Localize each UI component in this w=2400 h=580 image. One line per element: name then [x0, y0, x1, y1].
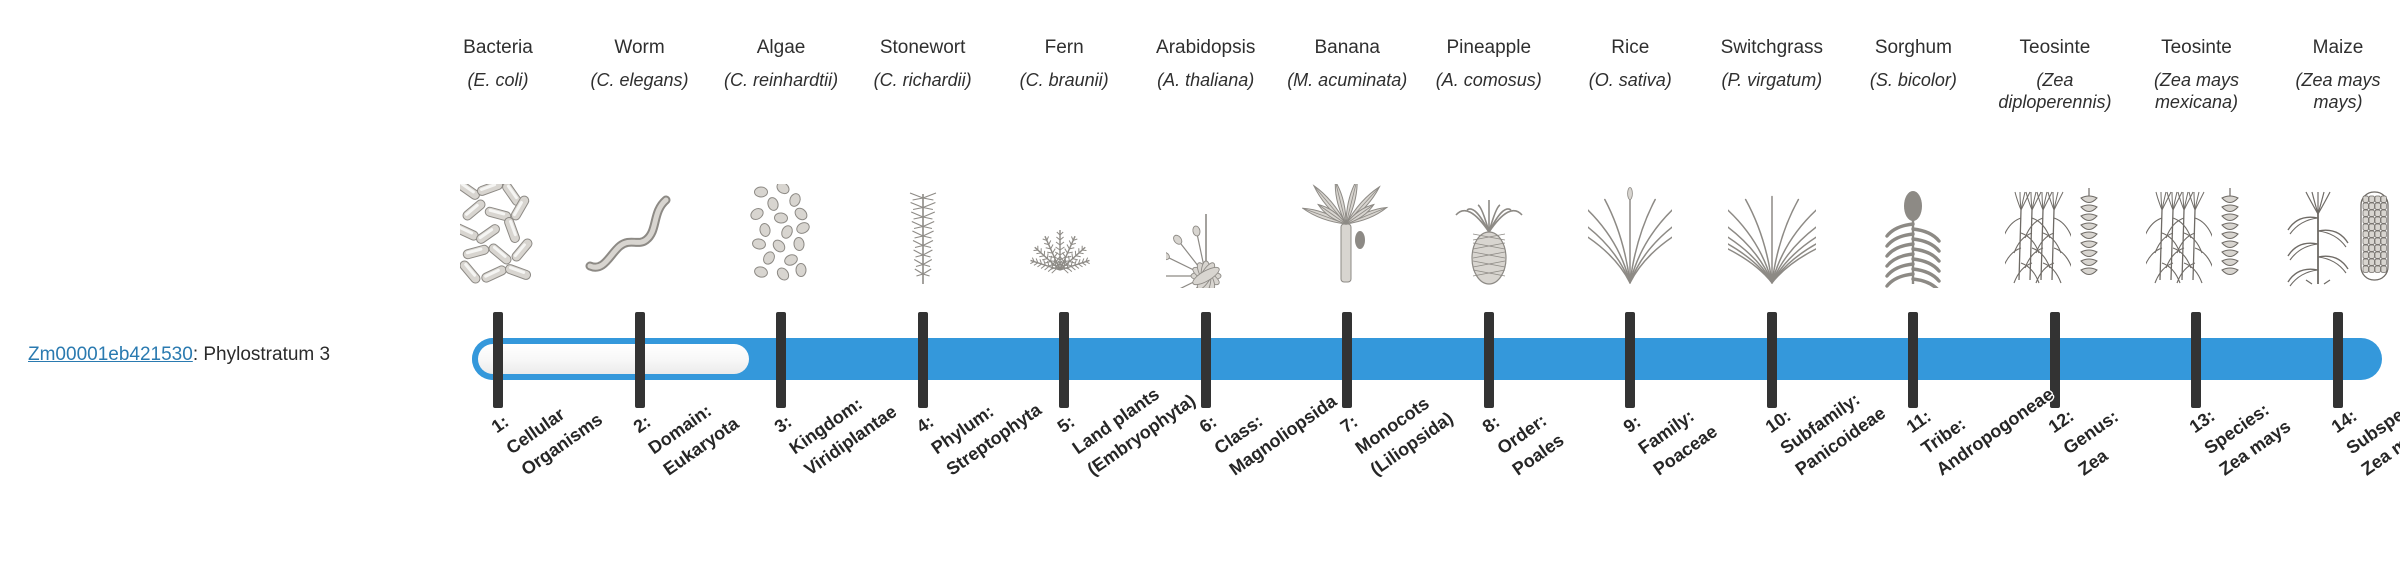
maize-illustration	[2274, 168, 2400, 288]
gene-label-separator: :	[193, 344, 204, 365]
phylostratum-progress-track[interactable]	[472, 338, 2382, 380]
phylostratum-label: 10: Subfamily: Panicoideae	[1760, 298, 1977, 482]
fern-illustration	[1000, 168, 1128, 288]
phylostratum-tick	[1059, 312, 1069, 408]
phylostratum-label: 7: Monocots (Liliopsida)	[1335, 298, 1552, 482]
species-common-name: Teosinte	[2132, 36, 2260, 60]
species-column: Pineapple (A. comosus)	[1425, 36, 1553, 115]
phylostratum-label: 13: Species: Zea mays	[2184, 298, 2400, 482]
species-scientific-name: (Zea mays mays)	[2274, 69, 2400, 115]
species-scientific-name: (Zea diploperennis)	[1991, 69, 2119, 115]
teosinte-diploperennis-illustration	[1991, 168, 2119, 288]
species-column: Bacteria (E. coli)	[434, 36, 562, 115]
arabidopsis-illustration	[1142, 168, 1270, 288]
rice-illustration	[1566, 168, 1694, 288]
phylostratum-unfilled-inner	[478, 344, 749, 374]
phylostratum-tick	[2333, 312, 2343, 408]
phylostratum-tick	[635, 312, 645, 408]
phylostratum-label: 9: Family: Poaceae	[1618, 298, 1835, 482]
species-common-name: Fern	[1000, 36, 1128, 60]
gene-phylostratum-label: Zm00001eb421530: Phylostratum 3	[28, 343, 458, 367]
species-column: Sorghum (S. bicolor)	[1849, 36, 1977, 115]
species-common-name: Banana	[1283, 36, 1411, 60]
species-common-name: Bacteria	[434, 36, 562, 60]
phylostratum-tick	[776, 312, 786, 408]
species-column: Teosinte (Zea mays mexicana)	[2132, 36, 2260, 115]
species-scientific-name: (A. comosus)	[1425, 69, 1553, 115]
phylostratum-figure: Zm00001eb421530: Phylostratum 3 Bacteria…	[0, 0, 2400, 580]
phylostratum-value-text: Phylostratum 3	[203, 344, 330, 365]
bacteria-illustration	[434, 168, 562, 288]
phylostratum-label: 8: Order: Poales	[1477, 298, 1694, 482]
banana-illustration	[1283, 168, 1411, 288]
species-column: Rice (O. sativa)	[1566, 36, 1694, 115]
phylostratum-tick	[1625, 312, 1635, 408]
species-common-name: Algae	[717, 36, 845, 60]
phylostratum-tick	[1342, 312, 1352, 408]
species-scientific-name: (C. richardii)	[859, 69, 987, 115]
phylostratum-label: 3: Kingdom: Viridiplantae	[769, 298, 986, 482]
phylostratum-tick	[1201, 312, 1211, 408]
phylostratum-label: 6: Class: Magnoliopsida	[1194, 298, 1411, 482]
species-scientific-name: (C. elegans)	[576, 69, 704, 115]
phylostratum-label: 12: Genus: Zea	[2043, 298, 2260, 482]
teosinte-mexicana-illustration	[2132, 168, 2260, 288]
stonewort-illustration	[859, 168, 987, 288]
species-column: Stonewort (C. richardii)	[859, 36, 987, 115]
species-column: Switchgrass (P. virgatum)	[1708, 36, 1836, 115]
species-common-name: Teosinte	[1991, 36, 2119, 60]
species-scientific-name: (A. thaliana)	[1142, 69, 1270, 115]
phylostratum-unfilled-region	[472, 338, 755, 380]
phylostratum-label: 5: Land plants (Embryophyta)	[1052, 298, 1269, 482]
species-scientific-name: (P. virgatum)	[1708, 69, 1836, 115]
species-common-name: Sorghum	[1849, 36, 1977, 60]
species-scientific-name: (O. sativa)	[1566, 69, 1694, 115]
species-scientific-name: (Zea mays mexicana)	[2132, 69, 2260, 115]
species-column: Arabidopsis (A. thaliana)	[1142, 36, 1270, 115]
phylostratum-tick	[493, 312, 503, 408]
species-common-name: Arabidopsis	[1142, 36, 1270, 60]
gene-id-link[interactable]: Zm00001eb421530	[28, 344, 193, 365]
species-column: Maize (Zea mays mays)	[2274, 36, 2400, 115]
phylostratum-tick	[1908, 312, 1918, 408]
phylostratum-tick	[918, 312, 928, 408]
switchgrass-illustration	[1708, 168, 1836, 288]
species-column: Algae (C. reinhardtii)	[717, 36, 845, 115]
species-scientific-name: (S. bicolor)	[1849, 69, 1977, 115]
pineapple-illustration	[1425, 168, 1553, 288]
species-common-name: Stonewort	[859, 36, 987, 60]
phylostratum-tick	[1484, 312, 1494, 408]
phylostratum-label: 2: Domain: Eukaryota	[628, 298, 845, 482]
phylostratum-tick	[2050, 312, 2060, 408]
phylostratum-tick	[2191, 312, 2201, 408]
phylostratum-tick	[1767, 312, 1777, 408]
phylostratum-label: 1: Cellular Organisms	[486, 298, 703, 482]
worm-illustration	[576, 168, 704, 288]
species-common-name: Pineapple	[1425, 36, 1553, 60]
species-scientific-name: (M. acuminata)	[1283, 69, 1411, 115]
species-column: Teosinte (Zea diploperennis)	[1991, 36, 2119, 115]
species-common-name: Rice	[1566, 36, 1694, 60]
algae-illustration	[717, 168, 845, 288]
phylostratum-label: 4: Phylum: Streptophyta	[911, 298, 1128, 482]
phylostratum-label: 11: Tribe: Andropogoneae	[1901, 298, 2118, 482]
species-common-name: Worm	[576, 36, 704, 60]
species-scientific-name: (C. braunii)	[1000, 69, 1128, 115]
species-column: Fern (C. braunii)	[1000, 36, 1128, 115]
species-common-name: Switchgrass	[1708, 36, 1836, 60]
species-common-name: Maize	[2274, 36, 2400, 60]
species-scientific-name: (E. coli)	[434, 69, 562, 115]
species-column: Banana (M. acuminata)	[1283, 36, 1411, 115]
sorghum-illustration	[1849, 168, 1977, 288]
species-scientific-name: (C. reinhardtii)	[717, 69, 845, 115]
species-column: Worm (C. elegans)	[576, 36, 704, 115]
